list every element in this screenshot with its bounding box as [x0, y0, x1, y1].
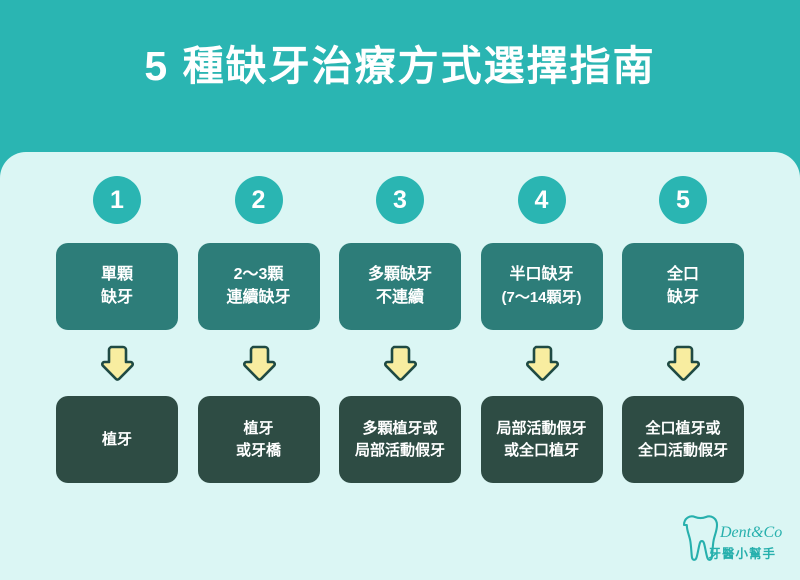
down-arrow-icon — [383, 344, 417, 382]
condition-line-4a: 半口缺牙 — [501, 264, 581, 287]
step-column-5: 5 全口 缺牙 全口植牙或 全口活動假牙 — [622, 176, 744, 483]
down-arrow-icon — [242, 344, 276, 382]
treatment-line-5a: 全口植牙或 — [638, 418, 728, 440]
treatment-box-4: 局部活動假牙 或全口植牙 — [481, 396, 603, 483]
brand-logo: Dent&Co 牙醫小幫手 — [670, 512, 786, 568]
condition-box-2: 2～3顆 連續缺牙 — [198, 243, 320, 330]
condition-box-4: 半口缺牙 (7～14顆牙) — [481, 243, 603, 330]
step-badge-5: 5 — [659, 176, 707, 224]
svg-text:Dent&Co: Dent&Co — [719, 524, 782, 541]
condition-box-3: 多顆缺牙 不連續 — [339, 243, 461, 330]
treatment-box-5: 全口植牙或 全口活動假牙 — [622, 396, 744, 483]
content-panel: 1 單顆 缺牙 植牙 2 — [0, 152, 800, 580]
condition-box-1: 單顆 缺牙 — [56, 243, 178, 330]
condition-line-1b: 缺牙 — [101, 287, 133, 310]
step-badge-1: 1 — [93, 176, 141, 224]
step-badge-4: 4 — [518, 176, 566, 224]
condition-line-2a: 2～3顆 — [226, 264, 290, 287]
condition-line-4b: (7～14顆牙) — [501, 287, 581, 308]
condition-box-5: 全口 缺牙 — [622, 243, 744, 330]
treatment-line-3a: 多顆植牙或 — [355, 418, 445, 440]
treatment-line-2b: 或牙橋 — [236, 440, 281, 462]
treatment-line-4b: 或全口植牙 — [496, 440, 586, 462]
page-title: 5 種缺牙治療方式選擇指南 — [144, 44, 655, 89]
step-column-3: 3 多顆缺牙 不連續 多顆植牙或 局部活動假牙 — [339, 176, 461, 483]
step-column-4: 4 半口缺牙 (7～14顆牙) 局部活動假牙 或全口植牙 — [481, 176, 603, 483]
step-column-1: 1 單顆 缺牙 植牙 — [56, 176, 178, 483]
treatment-box-1: 植牙 — [56, 396, 178, 483]
step-badge-2: 2 — [235, 176, 283, 224]
down-arrow-icon — [100, 344, 134, 382]
treatment-box-2: 植牙 或牙橋 — [198, 396, 320, 483]
logo-chinese-text: 牙醫小幫手 — [708, 543, 776, 562]
down-arrow-icon — [666, 344, 700, 382]
treatment-line-3b: 局部活動假牙 — [355, 440, 445, 462]
header-banner: 5 種缺牙治療方式選擇指南 — [0, 0, 800, 155]
condition-line-5a: 全口 — [667, 264, 699, 287]
condition-line-2b: 連續缺牙 — [226, 287, 290, 310]
treatment-line-4a: 局部活動假牙 — [496, 418, 586, 440]
infographic-root: 5 種缺牙治療方式選擇指南 1 單顆 缺牙 植牙 — [0, 0, 800, 580]
condition-line-3b: 不連續 — [368, 287, 432, 310]
condition-line-1a: 單顆 — [101, 264, 133, 287]
step-badge-3: 3 — [376, 176, 424, 224]
treatment-box-3: 多顆植牙或 局部活動假牙 — [339, 396, 461, 483]
treatment-line-1a: 植牙 — [102, 429, 132, 451]
treatment-line-5b: 全口活動假牙 — [638, 440, 728, 462]
step-column-2: 2 2～3顆 連續缺牙 植牙 或牙橋 — [198, 176, 320, 483]
condition-line-3a: 多顆缺牙 — [368, 264, 432, 287]
treatment-line-2a: 植牙 — [236, 418, 281, 440]
condition-line-5b: 缺牙 — [667, 287, 699, 310]
steps-grid: 1 單顆 缺牙 植牙 2 — [56, 176, 744, 483]
down-arrow-icon — [525, 344, 559, 382]
